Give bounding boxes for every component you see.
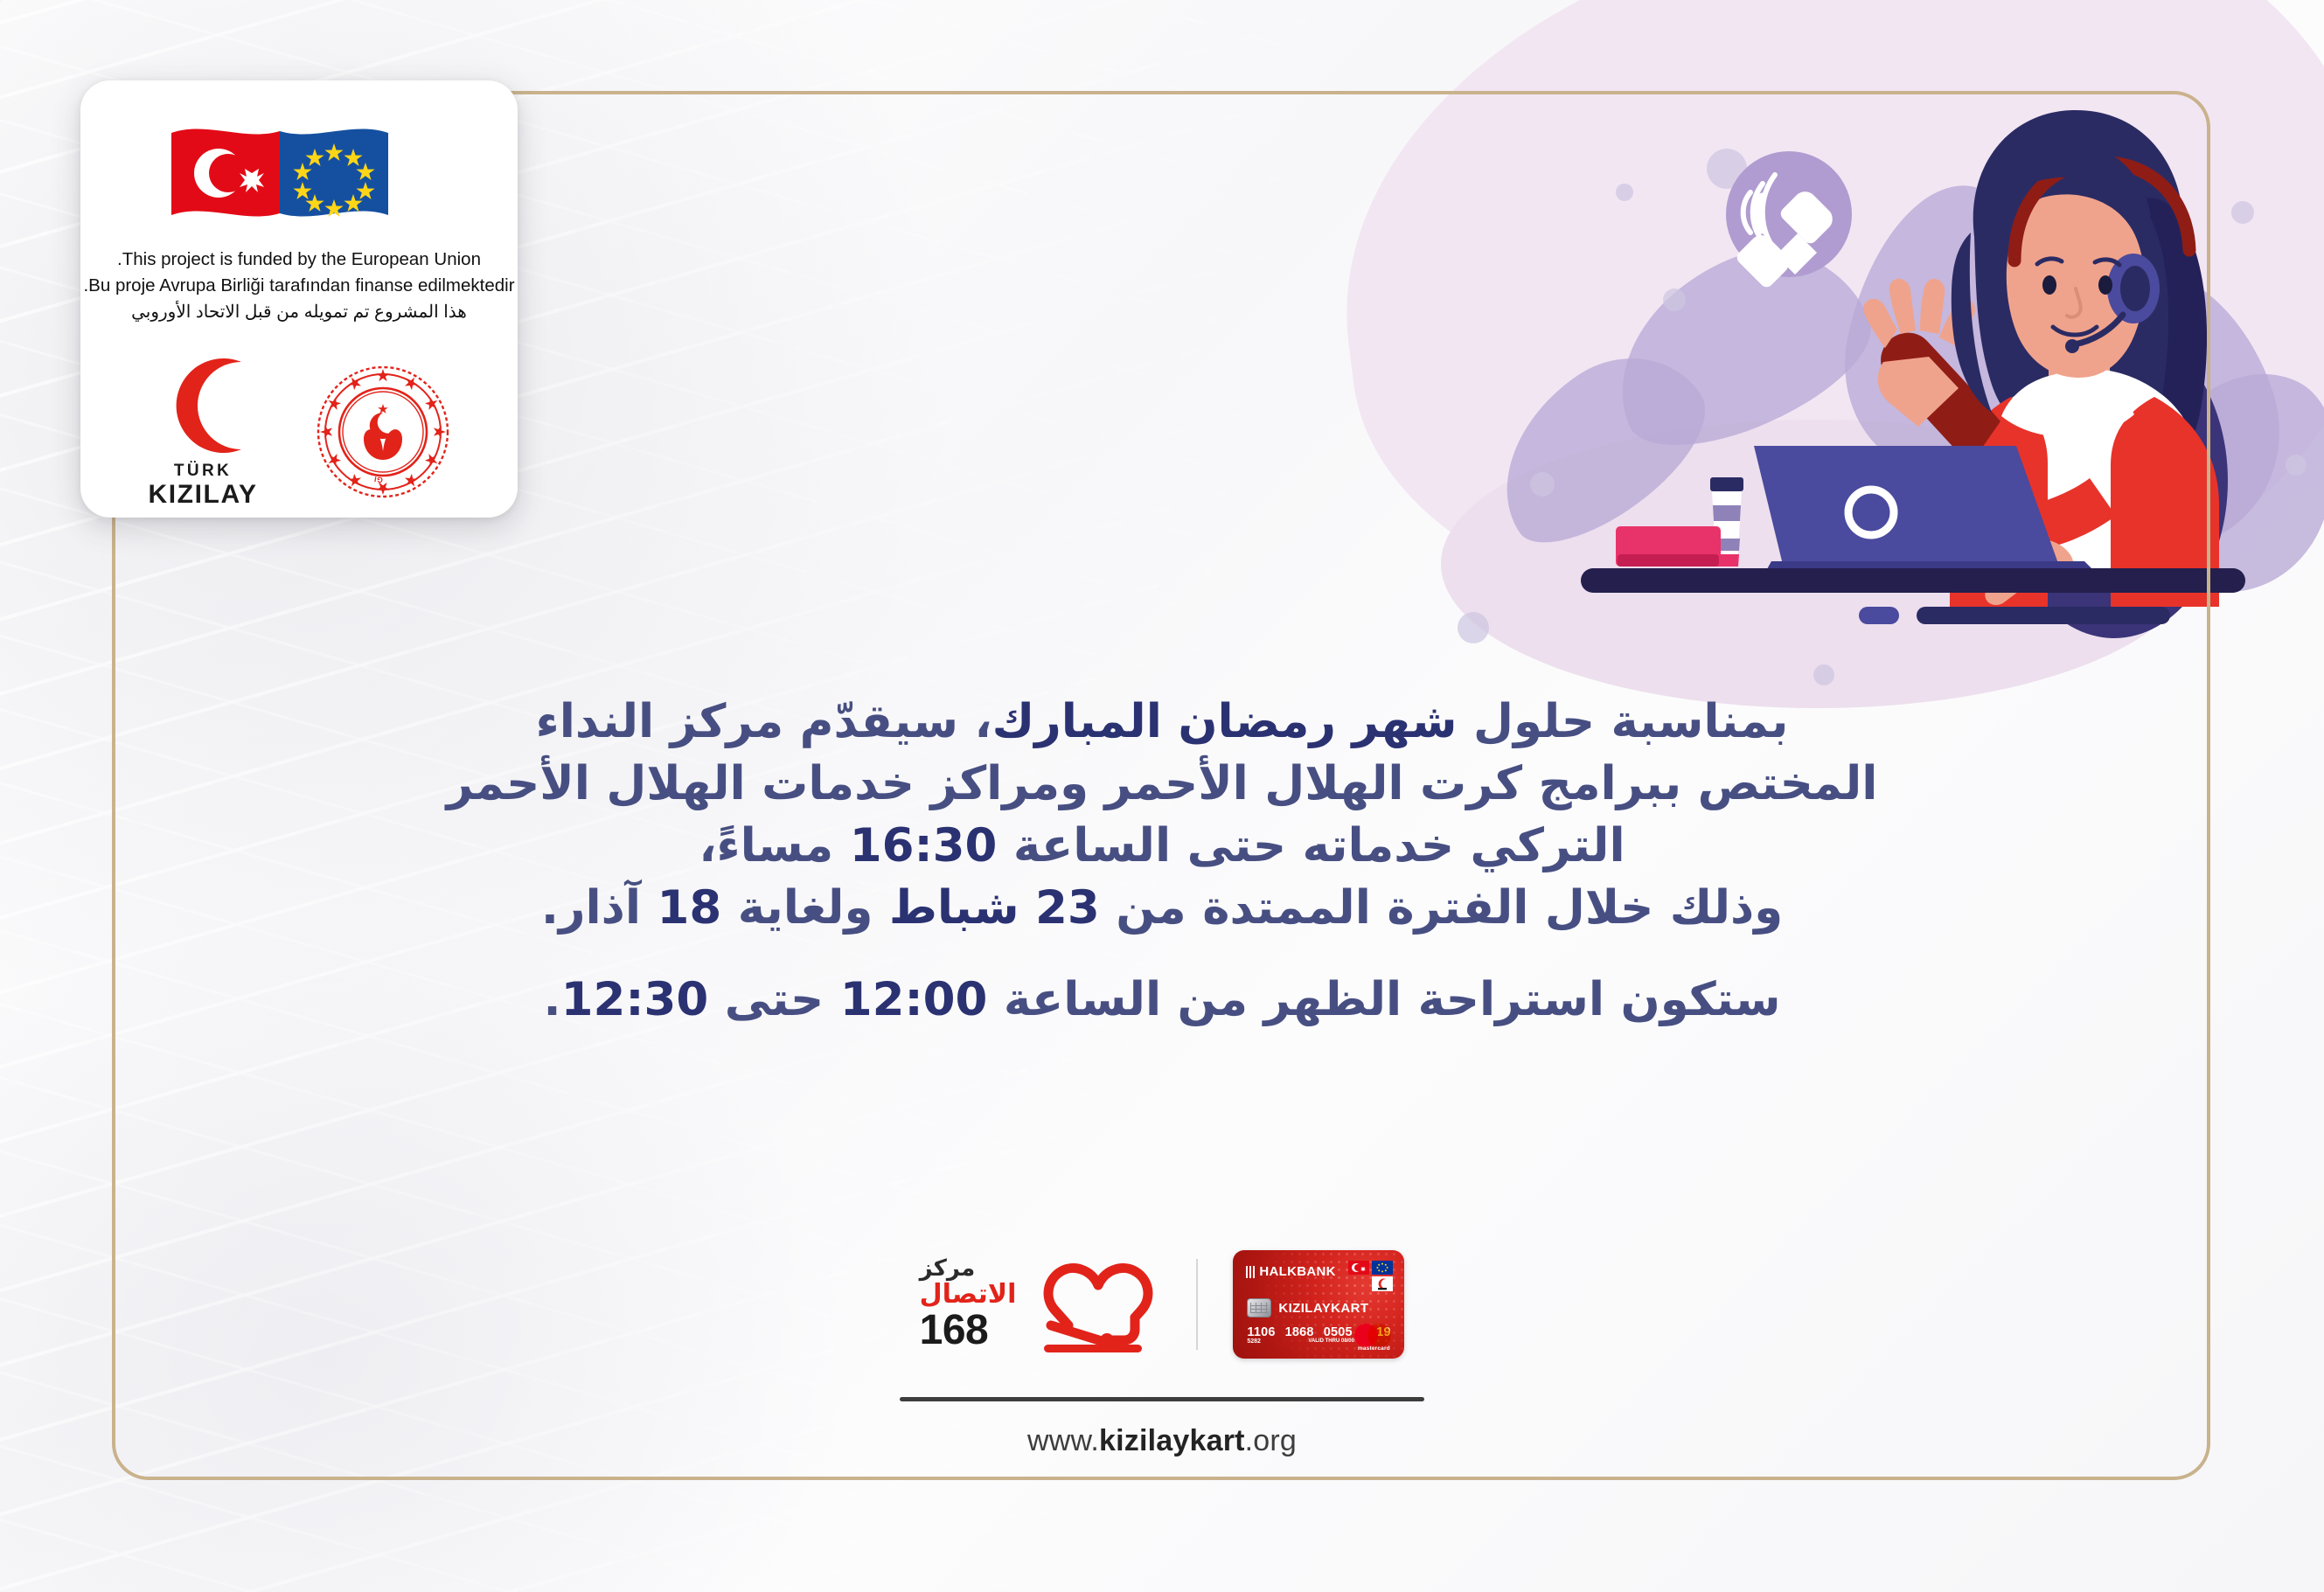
flags-row bbox=[168, 121, 430, 233]
phone-call-icon bbox=[1726, 151, 1852, 287]
break-end-time: 12:30 bbox=[561, 973, 709, 1026]
agent-illustration bbox=[1432, 0, 2324, 699]
ministry-seal: TÜRKİYE CUMHURİYETİ AİLE VE SOSYAL HİZME… bbox=[315, 364, 451, 500]
turkish-flag bbox=[171, 129, 280, 216]
website-name: kizilaykart bbox=[1099, 1424, 1245, 1457]
mastercard-yellow-circle bbox=[1367, 1324, 1391, 1347]
announcement-text: بمناسبة حلول شهر رمضان المبارك، سيقدّم م… bbox=[262, 691, 2062, 1031]
funding-text-turkish: Bu proje Avrupa Birliği tarafından finan… bbox=[83, 273, 514, 299]
break-post: . bbox=[543, 973, 560, 1026]
funding-statement: This project is funded by the European U… bbox=[83, 247, 514, 325]
website-www: www. bbox=[1027, 1424, 1099, 1457]
headline-line-4: وذلك خلال الفترة الممتدة من 23 شباط ولغا… bbox=[262, 877, 2062, 939]
call-center-markaz: مركز bbox=[920, 1257, 976, 1280]
call-center-number: 168 bbox=[920, 1310, 989, 1352]
headline-l3-post: مساءً، bbox=[699, 819, 849, 872]
kizilay-line-2: KIZILAY bbox=[148, 481, 257, 509]
headline-l3-time: 16:30 bbox=[850, 819, 998, 872]
halkbank-mark-icon bbox=[1246, 1266, 1256, 1278]
break-mid: حتى bbox=[708, 973, 839, 1026]
poster-canvas: This project is funded by the European U… bbox=[0, 0, 2324, 1592]
headline-l4-mid: ولغاية bbox=[721, 881, 889, 935]
card-number-group: 1106 bbox=[1247, 1325, 1275, 1339]
european-union-flag bbox=[280, 129, 388, 217]
card-flag-cluster bbox=[1348, 1261, 1393, 1291]
break-pre: ستكون استراحة الظهر من الساعة bbox=[987, 973, 1780, 1026]
card-bank-name: HALKBANK bbox=[1246, 1264, 1335, 1279]
desk-surface bbox=[1581, 568, 2245, 593]
turk-kizilay-logo: TÜRK KIZILAY bbox=[147, 355, 259, 509]
headline-l1-post: ، سيقدّم مركز النداء bbox=[536, 695, 992, 748]
headline-l4-post: آذار. bbox=[541, 881, 658, 935]
headline-break-note: ستكون استراحة الظهر من الساعة 12:00 حتى … bbox=[262, 969, 2062, 1031]
call-center-ittisal: الاتصال bbox=[920, 1282, 1017, 1308]
break-start-time: 12:00 bbox=[840, 973, 988, 1026]
card-turkish-flag-icon bbox=[1348, 1261, 1369, 1275]
mastercard-wordmark: mastercard bbox=[1354, 1345, 1393, 1352]
kizilay-line-1: TÜRK bbox=[174, 462, 232, 481]
call-center-168-logo: مركز الاتصال 168 bbox=[920, 1254, 1162, 1355]
card-valid-thru: VALID THRU 08/00 bbox=[1308, 1338, 1354, 1344]
headline-l4-start-date: 23 شباط bbox=[889, 881, 1100, 935]
footer-rule bbox=[900, 1397, 1424, 1401]
card-sub-left: 5282 bbox=[1247, 1338, 1261, 1345]
funding-logo-card: This project is funded by the European U… bbox=[80, 80, 518, 518]
headline-line-1: بمناسبة حلول شهر رمضان المبارك، سيقدّم م… bbox=[262, 691, 2062, 753]
organisation-logos: TÜRKİYE CUMHURİYETİ AİLE VE SOSYAL HİZME… bbox=[80, 355, 518, 509]
footer-divider bbox=[1196, 1259, 1198, 1350]
call-center-text: مركز الاتصال 168 bbox=[920, 1257, 1017, 1352]
headline-l4-pre: وذلك خلال الفترة الممتدة من bbox=[1100, 881, 1783, 935]
headline-l1-pre: بمناسبة حلول bbox=[1458, 695, 1789, 748]
headline-l4-end-date: 18 bbox=[657, 881, 721, 935]
funding-text-arabic: هذا المشروع تم تمويله من قبل الاتحاد الأ… bbox=[83, 300, 514, 325]
kizilaykart-bank-card: HALKBANK bbox=[1233, 1250, 1404, 1359]
card-eu-flag-icon bbox=[1372, 1261, 1393, 1275]
card-number-group: 1868 bbox=[1285, 1325, 1314, 1339]
headline-line-3: التركي خدماته حتى الساعة 16:30 مساءً، bbox=[262, 815, 2062, 877]
headline-line-2: المختص ببرامج كرت الهلال الأحمر ومراكز خ… bbox=[262, 753, 2062, 815]
red-crescent-icon bbox=[147, 355, 259, 456]
poster-footer: HALKBANK bbox=[0, 1250, 2324, 1458]
card-bank-label: HALKBANK bbox=[1259, 1264, 1335, 1279]
card-chip-icon bbox=[1247, 1298, 1271, 1317]
website-tld: .org bbox=[1245, 1424, 1297, 1457]
card-brand-label: KIZILAYKART bbox=[1278, 1301, 1368, 1316]
footer-logo-row: HALKBANK bbox=[920, 1250, 1405, 1359]
card-kizilay-flag-icon bbox=[1372, 1276, 1393, 1291]
card-number-group: 0505 bbox=[1324, 1325, 1353, 1339]
headline-l3-pre: التركي خدماته حتى الساعة bbox=[997, 819, 1625, 872]
headset-heart-icon bbox=[1030, 1254, 1161, 1355]
website-url[interactable]: www.kizilaykart.org bbox=[1027, 1424, 1297, 1458]
funding-text-english: This project is funded by the European U… bbox=[83, 247, 514, 273]
headline-l1-bold: شهر رمضان المبارك bbox=[992, 695, 1458, 748]
mastercard-logo-icon: mastercard bbox=[1354, 1324, 1393, 1351]
